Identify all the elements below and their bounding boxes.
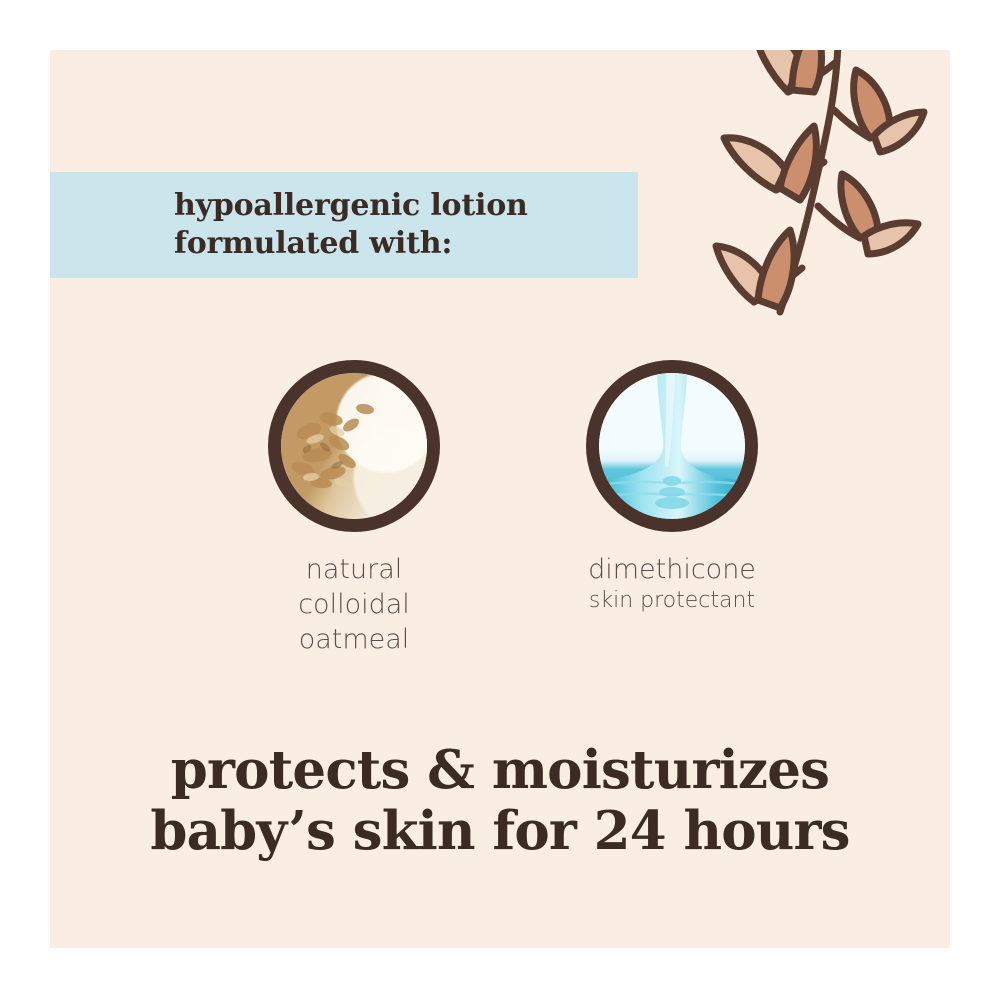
ingredient-natural-colloidal-oatmeal: natural colloidal oatmeal [254,360,454,657]
oat-sprig-icon [710,50,950,370]
oatmeal-caption-line-1: natural colloidal [254,552,454,622]
oatmeal-caption-line-2: oatmeal [254,622,454,657]
header-text: hypoallergenic lotion formulated with: [50,187,528,263]
header-line-2: formulated with: [174,225,528,263]
dimethicone-caption: dimethicone skin protectant [572,552,772,616]
dimethicone-caption-line-1: dimethicone [572,552,772,587]
oat-flakes-icon [281,373,427,519]
ingredient-list: natural colloidal oatmeal [50,360,950,657]
header-band: hypoallergenic lotion formulated with: [50,172,638,278]
dimethicone-droplet-circle-icon [586,360,758,532]
headline-line-1: protects & moisturizes [50,740,950,801]
header-line-1: hypoallergenic lotion [174,188,528,223]
cream-panel: hypoallergenic lotion formulated with: [50,50,950,948]
headline-line-2: baby’s skin for 24 hours [50,801,950,862]
ingredient-dimethicone: dimethicone skin protectant [572,360,772,616]
oatmeal-caption: natural colloidal oatmeal [254,552,454,657]
liquid-stream-icon [599,373,745,519]
oatmeal-circle-icon [268,360,440,532]
infographic-canvas: hypoallergenic lotion formulated with: [0,0,1000,1000]
dimethicone-caption-sub: skin protectant [572,587,772,616]
headline: protects & moisturizes baby’s skin for 2… [50,740,950,863]
